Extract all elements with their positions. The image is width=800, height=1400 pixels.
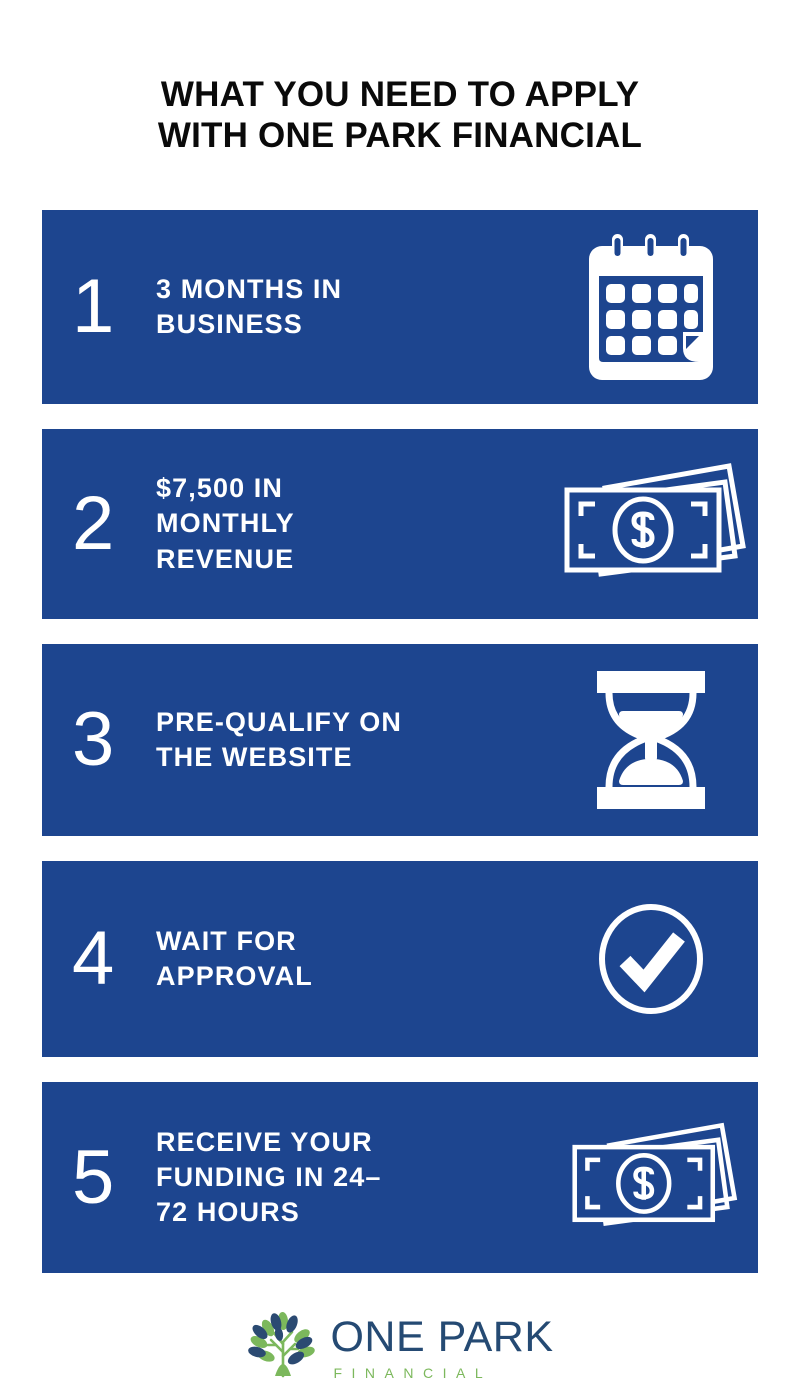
infographic-page: WHAT YOU NEED TO APPLY WITH ONE PARK FIN…	[0, 0, 800, 1400]
step-label-2-line-3: REVENUE	[156, 542, 533, 577]
step-label-5: RECEIVE YOUR FUNDING IN 24– 72 HOURS	[156, 1125, 543, 1230]
steps-list: 1 3 MONTHS IN BUSINESS	[42, 210, 758, 1298]
cash-stack-icon	[543, 454, 758, 594]
step-card-1: 1 3 MONTHS IN BUSINESS	[42, 210, 758, 404]
step-number-2: 2	[72, 486, 156, 562]
page-title-line-2: WITH ONE PARK FINANCIAL	[0, 115, 800, 156]
step-label-2: $7,500 IN MONTHLY REVENUE	[156, 471, 543, 576]
step-card-3: 3 PRE-QUALIFY ON THE WEBSITE	[42, 644, 758, 836]
logo-name: ONE PARK	[330, 1316, 553, 1359]
step-label-1: 3 MONTHS IN BUSINESS	[156, 272, 543, 342]
step-label-2-line-1: $7,500 IN	[156, 471, 533, 506]
calendar-icon	[543, 232, 758, 382]
cash-stack-icon	[543, 1114, 758, 1242]
step-label-5-line-2: FUNDING IN 24–	[156, 1160, 533, 1195]
logo-wordmark: ONE PARK FINANCIAL	[330, 1316, 553, 1380]
step-label-1-line-1: 3 MONTHS IN	[156, 272, 533, 307]
step-number-1: 1	[72, 269, 156, 345]
check-circle-icon	[543, 903, 758, 1015]
page-title-line-1: WHAT YOU NEED TO APPLY	[0, 74, 800, 115]
step-number-5: 5	[72, 1140, 156, 1216]
step-label-3-line-1: PRE-QUALIFY ON	[156, 705, 533, 740]
step-card-5: 5 RECEIVE YOUR FUNDING IN 24– 72 HOURS	[42, 1082, 758, 1273]
hourglass-icon	[543, 669, 758, 811]
step-card-2: 2 $7,500 IN MONTHLY REVENUE	[42, 429, 758, 619]
page-title: WHAT YOU NEED TO APPLY WITH ONE PARK FIN…	[0, 74, 800, 157]
step-label-5-line-3: 72 HOURS	[156, 1195, 533, 1230]
step-label-3: PRE-QUALIFY ON THE WEBSITE	[156, 705, 543, 775]
step-card-4: 4 WAIT FOR APPROVAL	[42, 861, 758, 1057]
step-number-3: 3	[72, 702, 156, 778]
step-label-1-line-2: BUSINESS	[156, 307, 533, 342]
brand-logo: ONE PARK FINANCIAL	[0, 1312, 800, 1383]
step-label-2-line-2: MONTHLY	[156, 506, 533, 541]
step-label-4-line-2: APPROVAL	[156, 959, 533, 994]
step-label-3-line-2: THE WEBSITE	[156, 740, 533, 775]
step-label-4-line-1: WAIT FOR	[156, 924, 533, 959]
logo-tagline: FINANCIAL	[333, 1366, 553, 1380]
step-number-4: 4	[72, 921, 156, 997]
step-label-4: WAIT FOR APPROVAL	[156, 924, 543, 994]
tree-icon	[246, 1312, 320, 1383]
step-label-5-line-1: RECEIVE YOUR	[156, 1125, 533, 1160]
